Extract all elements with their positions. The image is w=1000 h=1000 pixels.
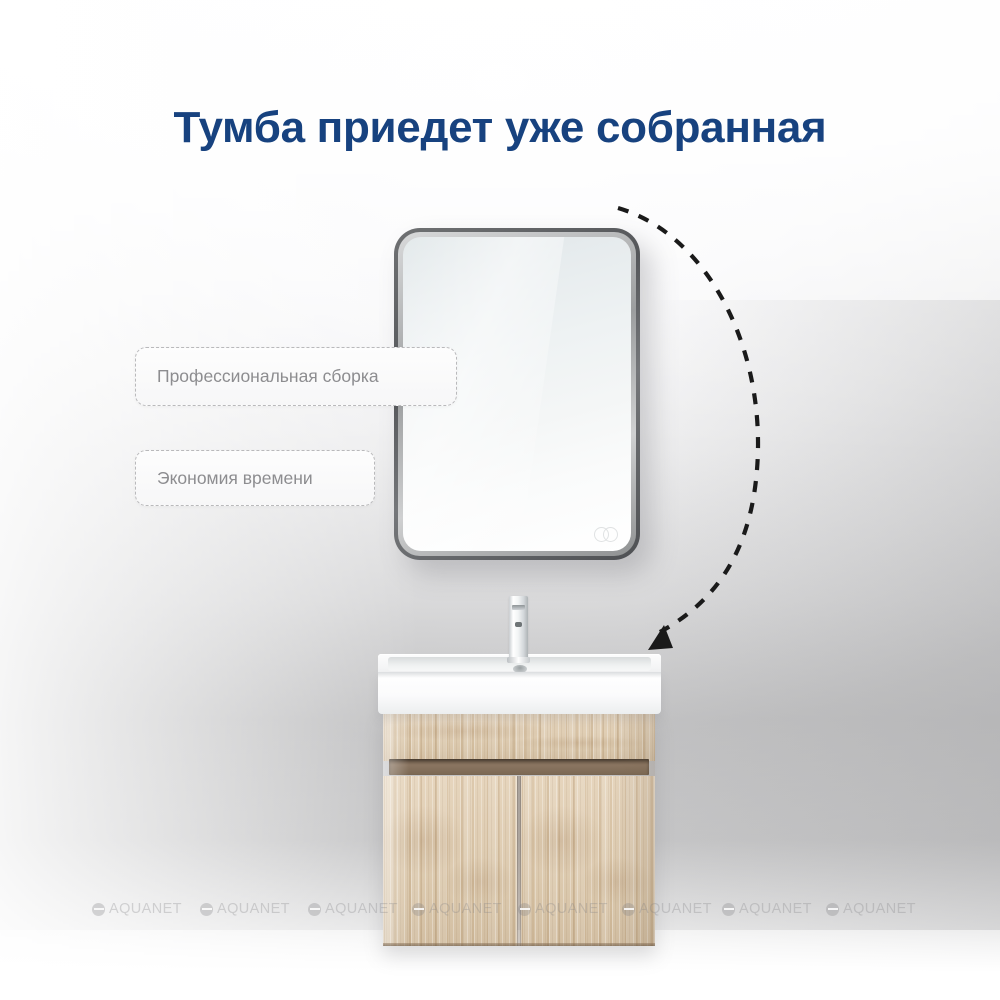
aquanet-logo-icon xyxy=(622,903,635,916)
faucet xyxy=(509,596,528,660)
aquanet-logo-icon xyxy=(200,903,213,916)
feature-tag-label: Профессиональная сборка xyxy=(136,366,379,387)
aquanet-logo-icon xyxy=(518,903,531,916)
faucet-lever xyxy=(512,605,525,610)
aquanet-logo-icon xyxy=(412,903,425,916)
cabinet-handle-groove xyxy=(389,759,649,775)
product-banner: Тумба приедет уже собранная Профессионал… xyxy=(0,0,1000,1000)
aquanet-logo-icon xyxy=(92,903,105,916)
watermark: AQUANET xyxy=(722,901,812,917)
watermark: AQUANET xyxy=(518,901,608,917)
watermark-label: AQUANET xyxy=(325,901,398,917)
watermark-row: AQUANET AQUANET AQUANET AQUANET AQUANET … xyxy=(0,901,1000,927)
faucet-base xyxy=(507,657,530,663)
watermark: AQUANET xyxy=(92,901,182,917)
feature-tag-time-saving: Экономия времени xyxy=(135,450,375,506)
feature-tag-label: Экономия времени xyxy=(136,468,313,489)
aquanet-logo-icon xyxy=(722,903,735,916)
watermark-label: AQUANET xyxy=(217,901,290,917)
watermark: AQUANET xyxy=(412,901,502,917)
watermark: AQUANET xyxy=(200,901,290,917)
curved-dashed-arrow xyxy=(560,180,840,680)
watermark-label: AQUANET xyxy=(639,901,712,917)
watermark: AQUANET xyxy=(308,901,398,917)
faucet-button xyxy=(515,622,522,627)
aquanet-logo-icon xyxy=(308,903,321,916)
watermark: AQUANET xyxy=(826,901,916,917)
cabinet-bottom-edge xyxy=(383,943,655,946)
feature-tag-professional-assembly: Профессиональная сборка xyxy=(135,347,457,406)
page-title: Тумба приедет уже собранная xyxy=(0,103,1000,152)
watermark-label: AQUANET xyxy=(843,901,916,917)
cabinet-top-panel xyxy=(383,713,655,761)
watermark-label: AQUANET xyxy=(429,901,502,917)
watermark-label: AQUANET xyxy=(109,901,182,917)
watermark-label: AQUANET xyxy=(739,901,812,917)
aquanet-logo-icon xyxy=(826,903,839,916)
watermark: AQUANET xyxy=(622,901,712,917)
watermark-label: AQUANET xyxy=(535,901,608,917)
